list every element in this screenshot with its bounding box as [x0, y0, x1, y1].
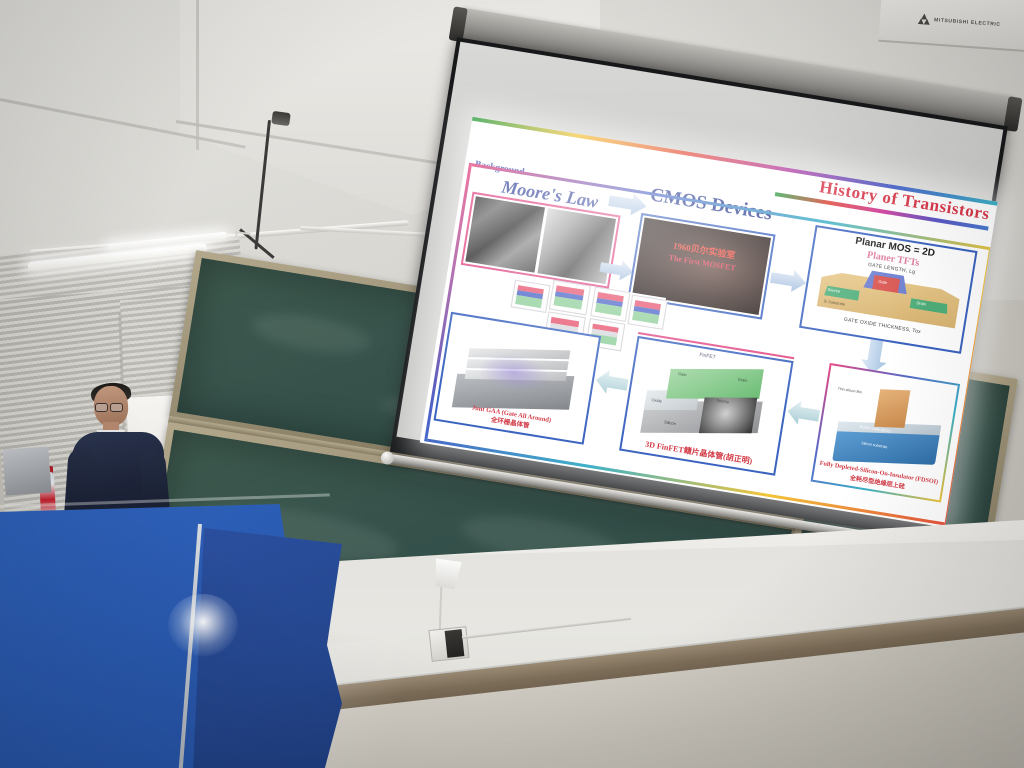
desk-specular-highlight — [168, 594, 238, 656]
slide-title: History of Transistors — [818, 177, 991, 224]
wall-camera-icon — [271, 111, 291, 126]
wall-vertical-seam — [196, 0, 199, 150]
classroom-photo: MITSUBISHI ELECTRIC History — [0, 0, 1024, 768]
eyeglasses-left-icon — [95, 403, 108, 412]
ac-brand-label: MITSUBISHI ELECTRIC — [934, 17, 1001, 28]
panel-finfet: FinFET Gate Drain Source Oxide Silicon 3… — [619, 336, 794, 476]
fdsoi-thin-silicon-label: Thin silicon film — [837, 387, 862, 395]
mitsubishi-diamonds-icon — [918, 13, 931, 25]
panel-fdsoi: Thin silicon film Buried oxide (BOX) Sil… — [811, 363, 960, 503]
laptop — [2, 446, 51, 495]
screen-surface: History of Transistors Background Moore'… — [396, 42, 1003, 525]
finfet-label: FinFET — [699, 352, 716, 361]
eyeglasses-right-icon — [110, 403, 123, 412]
projection-screen: History of Transistors Background Moore'… — [375, 6, 1024, 574]
